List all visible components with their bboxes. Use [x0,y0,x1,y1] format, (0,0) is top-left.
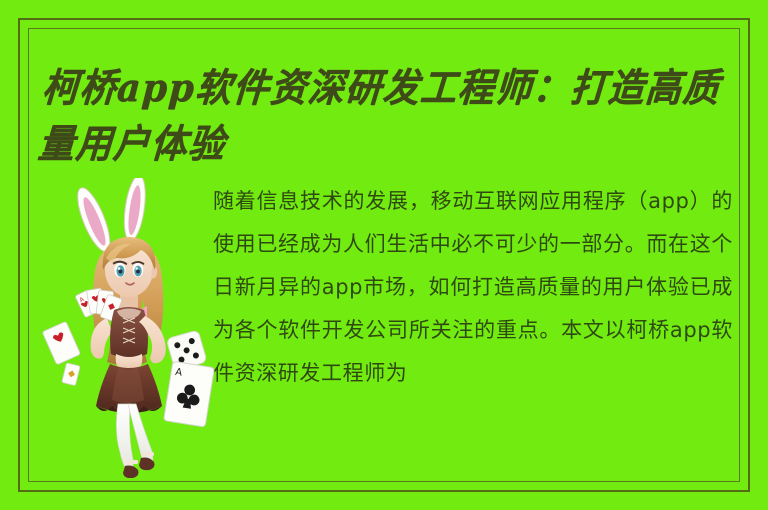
bunny-girl-card-dealer-illustration: A [40,178,225,478]
body-block: 随着信息技术的发展，移动互联网应用程序（app）的使用已经成为人们生活中必不可少… [213,180,733,395]
ace-of-clubs-card: A [164,361,215,427]
page-title: 柯桥app软件资深研发工程师：打造高质量用户体验 [36,60,734,172]
scattered-cards [42,321,80,385]
left-arm [91,318,112,359]
article-body-text: 随着信息技术的发展，移动互联网应用程序（app）的使用已经成为人们生活中必不可少… [213,180,733,395]
title-block: 柯桥app软件资深研发工程师：打造高质量用户体验 [44,60,734,164]
poster-canvas: 柯桥app软件资深研发工程师：打造高质量用户体验 随着信息技术的发展，移动互联网… [0,0,768,510]
